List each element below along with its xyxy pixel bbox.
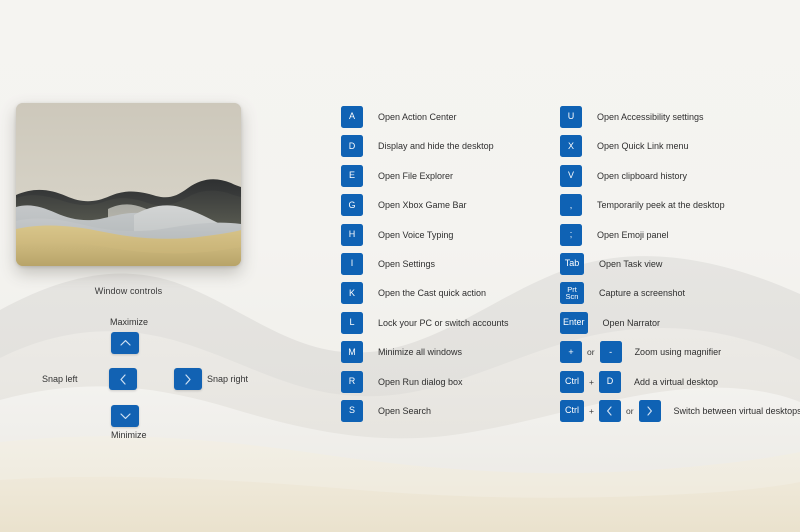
key-d[interactable]: D	[599, 371, 621, 393]
key-[interactable]: ,	[560, 194, 582, 216]
key-d[interactable]: D	[341, 135, 363, 157]
key-separator: or	[582, 341, 600, 363]
key-tab[interactable]: Tab	[560, 253, 584, 275]
minimize-button[interactable]	[111, 405, 139, 427]
shortcut-description: Open Run dialog box	[378, 371, 463, 393]
key-combination: X	[560, 135, 582, 157]
key-combination: U	[560, 106, 582, 128]
left-panel: Window controls	[16, 103, 266, 296]
key-combination: Ctrl+D	[560, 371, 621, 393]
key-combination: M	[341, 341, 363, 363]
shortcut-description: Open Search	[378, 400, 431, 422]
key-label: Tab	[565, 259, 580, 268]
key-combination: R	[341, 371, 363, 393]
key-label: -	[609, 348, 612, 357]
key-chevron-right-icon[interactable]	[639, 400, 661, 422]
shortcut-description: Temporarily peek at the desktop	[597, 194, 725, 216]
shortcut-row: UOpen Accessibility settings	[560, 106, 800, 135]
shortcut-description: Lock your PC or switch accounts	[378, 312, 509, 334]
snap-right-button[interactable]	[174, 368, 202, 390]
key-label: Enter	[563, 318, 585, 327]
key-combination: ;	[560, 224, 582, 246]
chevron-down-icon	[120, 412, 131, 420]
key-label: M	[348, 348, 356, 357]
snap-left-button[interactable]	[109, 368, 137, 390]
key-label: H	[349, 230, 356, 239]
key-combination: Tab	[560, 253, 584, 275]
key-label: G	[348, 201, 355, 210]
key-r[interactable]: R	[341, 371, 363, 393]
shortcut-description: Open File Explorer	[378, 165, 453, 187]
shortcut-column-right: UOpen Accessibility settingsXOpen Quick …	[560, 106, 800, 429]
key-label: A	[349, 112, 355, 121]
window-controls-caption: Window controls	[16, 286, 241, 296]
key-x[interactable]: X	[560, 135, 582, 157]
shortcut-description: Capture a screenshot	[599, 282, 685, 304]
key-combination: Ctrl+or	[560, 400, 661, 422]
shortcut-row: LLock your PC or switch accounts	[341, 312, 509, 341]
key-label: D	[349, 142, 356, 151]
key-combination: H	[341, 224, 363, 246]
key-label: I	[351, 259, 354, 268]
key-label-secondary: Scn	[566, 293, 579, 301]
chevron-up-icon	[120, 339, 131, 347]
shortcut-description: Open clipboard history	[597, 165, 687, 187]
key-combination: E	[341, 165, 363, 187]
key-label: D	[607, 377, 614, 386]
shortcut-row: DDisplay and hide the desktop	[341, 135, 509, 164]
key-separator: +	[584, 371, 599, 393]
key-combination: G	[341, 194, 363, 216]
key-combination: D	[341, 135, 363, 157]
desktop-wallpaper-preview[interactable]	[16, 103, 241, 266]
key-chevron-left-icon[interactable]	[599, 400, 621, 422]
shortcut-description: Open Task view	[599, 253, 662, 275]
window-controls-diagram: Maximize Snap left Snap right Minimize	[30, 313, 240, 438]
shortcut-description: Zoom using magnifier	[635, 341, 722, 363]
shortcut-row: XOpen Quick Link menu	[560, 135, 800, 164]
shortcut-row: AOpen Action Center	[341, 106, 509, 135]
key-ctrl[interactable]: Ctrl	[560, 371, 584, 393]
key-l[interactable]: L	[341, 312, 363, 334]
key-label: L	[349, 318, 354, 327]
shortcut-row: ,Temporarily peek at the desktop	[560, 194, 800, 223]
key-v[interactable]: V	[560, 165, 582, 187]
shortcut-description: Open Emoji panel	[597, 224, 669, 246]
shortcut-description: Add a virtual desktop	[634, 371, 718, 393]
shortcut-description: Open the Cast quick action	[378, 282, 486, 304]
shortcut-row: EOpen File Explorer	[341, 165, 509, 194]
key-combination: K	[341, 282, 363, 304]
key-label: V	[568, 171, 574, 180]
shortcut-description: Switch between virtual desktops	[674, 400, 800, 422]
shortcut-row: HOpen Voice Typing	[341, 224, 509, 253]
shortcut-description: Open Xbox Game Bar	[378, 194, 467, 216]
key-combination: ,	[560, 194, 582, 216]
key-k[interactable]: K	[341, 282, 363, 304]
key-label: X	[568, 142, 574, 151]
chevron-left-icon	[119, 374, 127, 385]
key-combination: I	[341, 253, 363, 275]
chevron-left-icon	[606, 406, 613, 416]
shortcut-row: Ctrl+DAdd a virtual desktop	[560, 371, 800, 400]
key-label: U	[568, 112, 575, 121]
shortcut-description: Open Action Center	[378, 106, 457, 128]
key-h[interactable]: H	[341, 224, 363, 246]
shortcut-description: Open Narrator	[603, 312, 661, 334]
key-u[interactable]: U	[560, 106, 582, 128]
key-combination: A	[341, 106, 363, 128]
key-separator: or	[621, 400, 639, 422]
key-ctrl[interactable]: Ctrl	[560, 400, 584, 422]
chevron-right-icon	[184, 374, 192, 385]
shortcut-row: PrtScnCapture a screenshot	[560, 282, 800, 311]
key-combination: Enter	[560, 312, 588, 334]
key-[interactable]: -	[600, 341, 622, 363]
key-i[interactable]: I	[341, 253, 363, 275]
shortcut-row: Ctrl+orSwitch between virtual desktops	[560, 400, 800, 429]
key-[interactable]: +	[560, 341, 582, 363]
shortcut-row: EnterOpen Narrator	[560, 312, 800, 341]
shortcut-description: Display and hide the desktop	[378, 135, 494, 157]
shortcut-row: GOpen Xbox Game Bar	[341, 194, 509, 223]
key-e[interactable]: E	[341, 165, 363, 187]
key-combination: +or-	[560, 341, 622, 363]
shortcut-row: SOpen Search	[341, 400, 509, 429]
key-label: ;	[570, 230, 573, 239]
key-a[interactable]: A	[341, 106, 363, 128]
shortcut-column-middle: AOpen Action CenterDDisplay and hide the…	[341, 106, 509, 429]
shortcut-row: ;Open Emoji panel	[560, 224, 800, 253]
key-m[interactable]: M	[341, 341, 363, 363]
key-combination: S	[341, 400, 363, 422]
chevron-right-icon	[646, 406, 653, 416]
key-label: S	[349, 406, 355, 415]
maximize-button[interactable]	[111, 332, 139, 354]
key-combination: PrtScn	[560, 282, 584, 304]
key-prt[interactable]: PrtScn	[560, 282, 584, 304]
key-label: Ctrl	[565, 377, 579, 386]
minimize-label: Minimize	[111, 430, 147, 440]
key-label: R	[349, 377, 356, 386]
shortcut-row: ROpen Run dialog box	[341, 371, 509, 400]
shortcut-description: Minimize all windows	[378, 341, 462, 363]
snap-right-label: Snap right	[207, 374, 248, 384]
shortcut-row: +or-Zoom using magnifier	[560, 341, 800, 370]
shortcut-description: Open Voice Typing	[378, 224, 453, 246]
shortcut-row: KOpen the Cast quick action	[341, 282, 509, 311]
key-g[interactable]: G	[341, 194, 363, 216]
key-separator: +	[584, 400, 599, 422]
key-label: Ctrl	[565, 406, 579, 415]
shortcut-row: VOpen clipboard history	[560, 165, 800, 194]
maximize-label: Maximize	[110, 317, 148, 327]
shortcut-row: TabOpen Task view	[560, 253, 800, 282]
key-combination: L	[341, 312, 363, 334]
wallpaper-illustration	[16, 103, 241, 266]
shortcut-description: Open Quick Link menu	[597, 135, 689, 157]
shortcut-row: IOpen Settings	[341, 253, 509, 282]
key-s[interactable]: S	[341, 400, 363, 422]
key-label: K	[349, 289, 355, 298]
key-label: E	[349, 171, 355, 180]
key-enter[interactable]: Enter	[560, 312, 588, 334]
key-[interactable]: ;	[560, 224, 582, 246]
key-label: +	[568, 348, 573, 357]
key-label: ,	[570, 201, 573, 210]
key-combination: V	[560, 165, 582, 187]
shortcut-description: Open Settings	[378, 253, 435, 275]
snap-left-label: Snap left	[42, 374, 78, 384]
shortcut-row: MMinimize all windows	[341, 341, 509, 370]
shortcut-description: Open Accessibility settings	[597, 106, 704, 128]
